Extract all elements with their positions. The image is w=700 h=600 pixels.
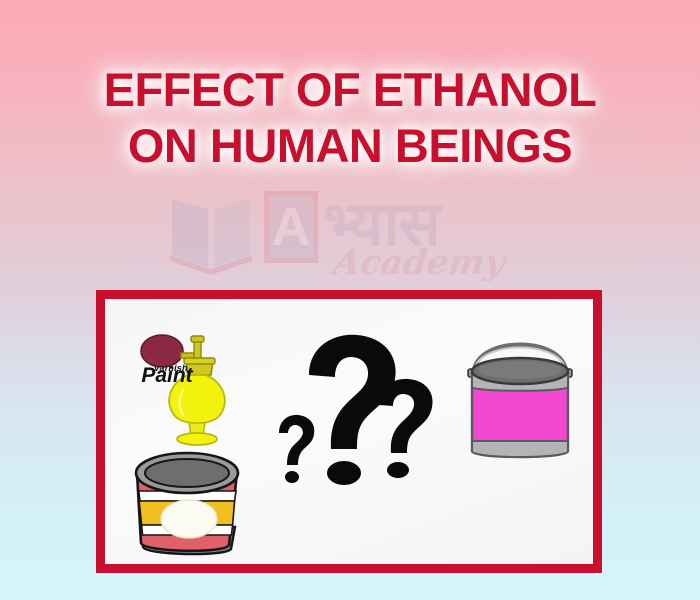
varnish-can-icon xyxy=(127,451,252,559)
watermark-script-text: Academy xyxy=(331,243,507,283)
page-title: EFFECT OF ETHANOL ON HUMAN BEINGS xyxy=(0,62,700,174)
watermark: A भ्यास Academy xyxy=(160,183,560,293)
perfume-bottle-icon xyxy=(140,331,255,451)
watermark-letter: A xyxy=(269,196,313,258)
title-line-2: ON HUMAN BEINGS xyxy=(0,118,700,174)
watermark-letter-box: A xyxy=(264,191,318,263)
slide-canvas: A भ्यास Academy EFFECT OF ETHANOL ON HUM… xyxy=(0,0,700,600)
title-line-1: EFFECT OF ETHANOL xyxy=(0,62,700,118)
watermark-hindi-text: भ्यास xyxy=(323,185,440,263)
paint-label: Paint xyxy=(123,364,211,388)
picture-frame: varnish xyxy=(96,290,602,573)
paint-bucket-icon xyxy=(460,329,580,469)
picture-canvas: varnish xyxy=(105,299,593,564)
open-book-icon xyxy=(168,189,254,275)
question-mark-icon xyxy=(265,327,445,517)
